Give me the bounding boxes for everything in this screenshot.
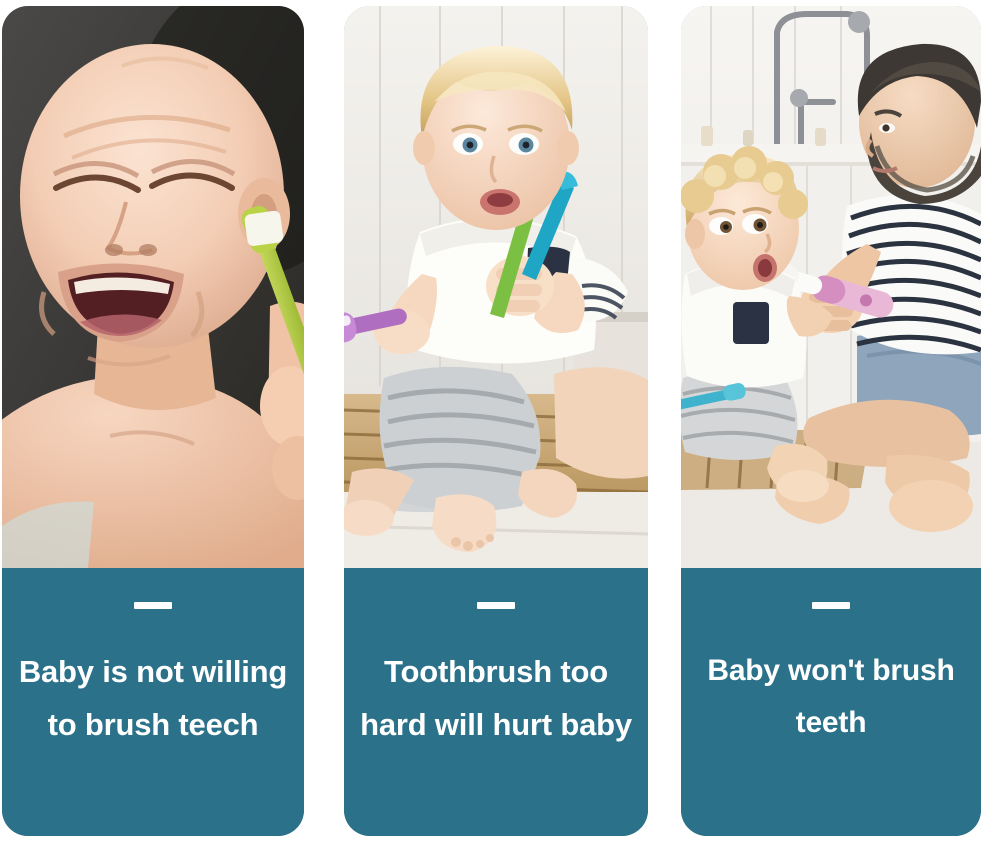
photo-toddler-toothbrushes bbox=[344, 6, 648, 568]
feature-panel-3: Baby won't brush teeth bbox=[681, 6, 981, 836]
father-and-toddler-illustration bbox=[681, 6, 981, 568]
caption-block-1: Baby is not willing to brush teech bbox=[2, 568, 304, 836]
feature-panel-2: Toothbrush too hard will hurt baby bbox=[344, 6, 648, 836]
caption-text-3: Baby won't brush teeth bbox=[690, 645, 972, 748]
caption-block-2: Toothbrush too hard will hurt baby bbox=[344, 568, 648, 836]
horizontal-dash-icon bbox=[134, 602, 172, 609]
toddler-with-toothbrushes-illustration bbox=[344, 6, 648, 568]
photo-crying-baby bbox=[2, 6, 304, 568]
caption-text-2: Toothbrush too hard will hurt baby bbox=[353, 645, 639, 752]
caption-text-1: Baby is not willing to brush teech bbox=[11, 645, 295, 752]
crying-baby-illustration bbox=[2, 6, 304, 568]
feature-graphic-board: Baby is not willing to brush teech bbox=[0, 0, 985, 842]
horizontal-dash-icon bbox=[477, 602, 515, 609]
photo-father-and-toddler bbox=[681, 6, 981, 568]
horizontal-dash-icon bbox=[812, 602, 850, 609]
caption-block-3: Baby won't brush teeth bbox=[681, 568, 981, 836]
feature-panel-1: Baby is not willing to brush teech bbox=[2, 6, 304, 836]
